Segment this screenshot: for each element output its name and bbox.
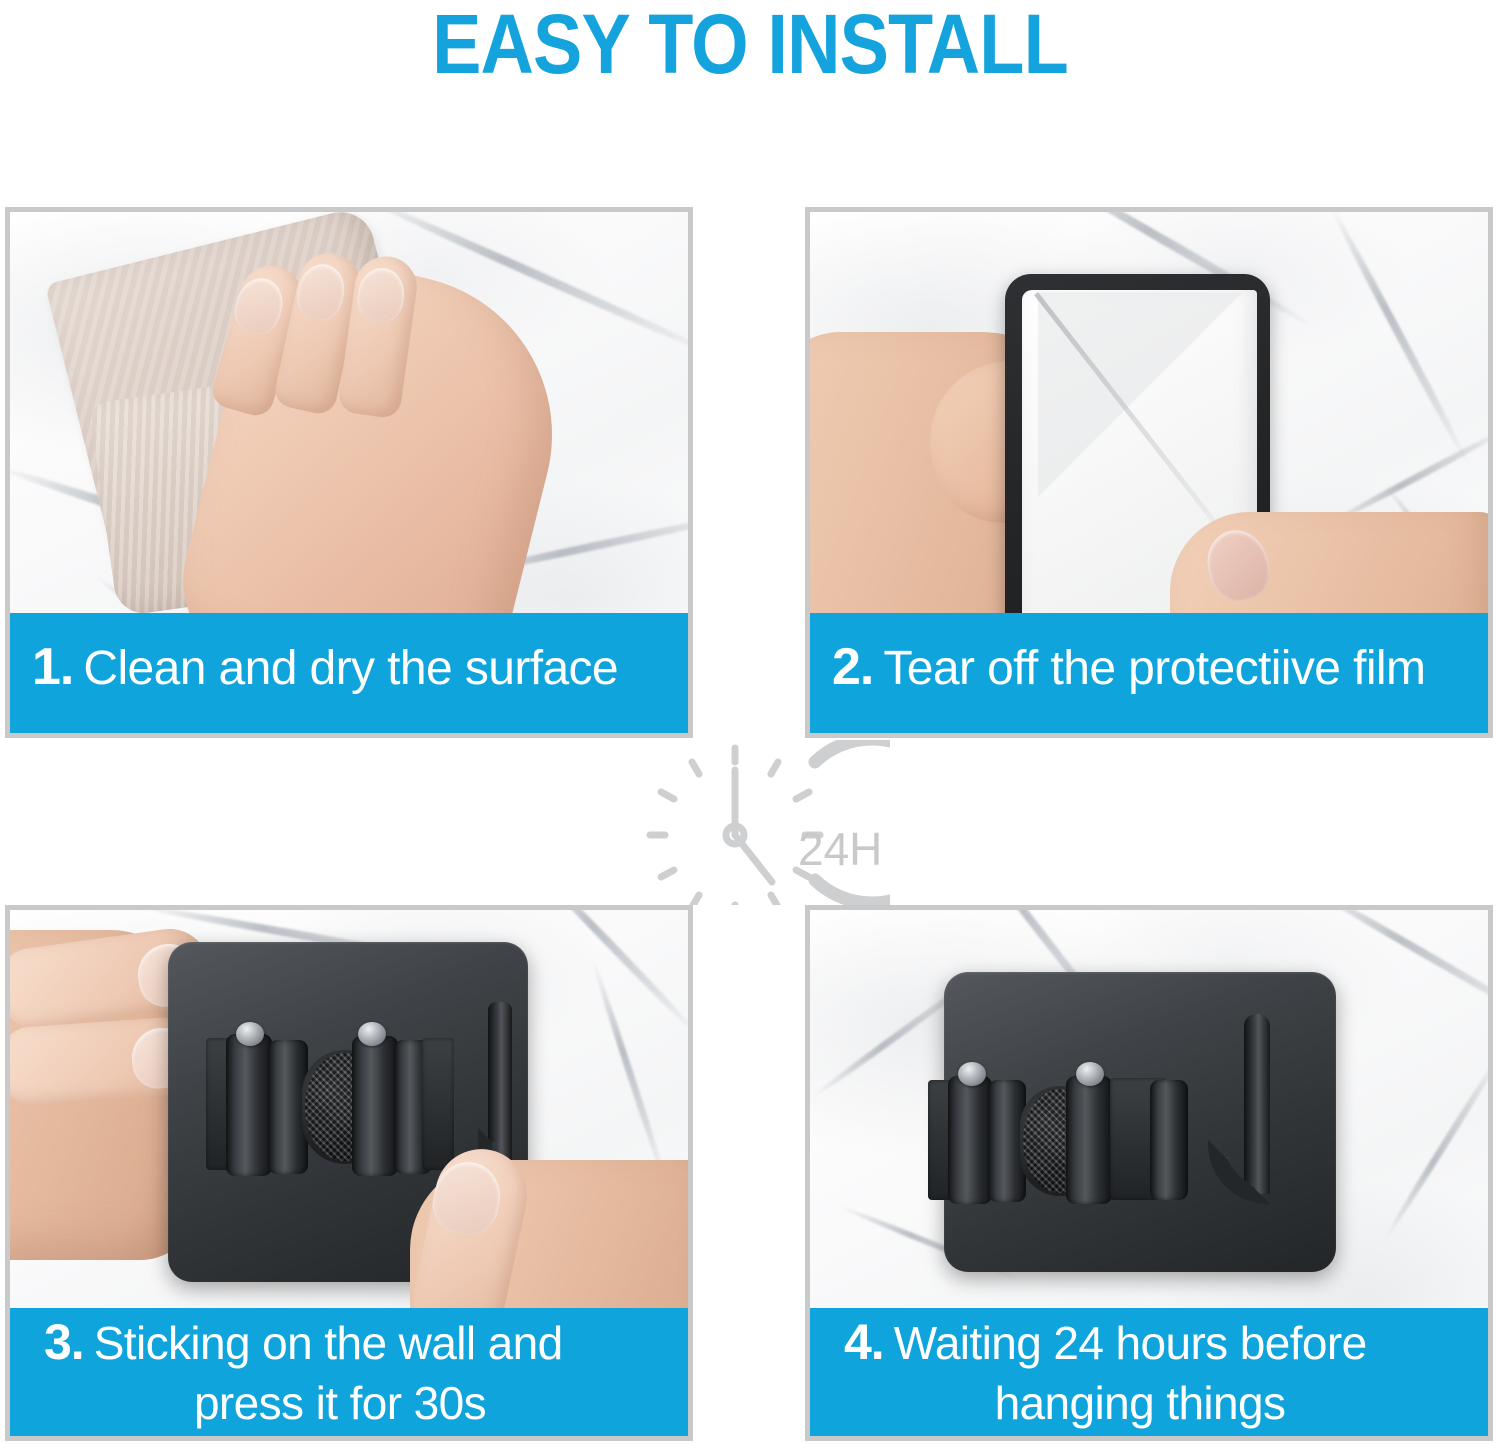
step-3-number: 3. <box>44 1314 84 1370</box>
infographic-page: EASY TO INSTALL 1.Clean and dry the surf… <box>0 0 1500 1451</box>
step-1-text: Clean and dry the surface <box>83 642 618 695</box>
clamp-bracket <box>422 1038 454 1170</box>
step-2-text: Tear off the protectiive film <box>883 642 1425 695</box>
step-3-text-line-2: press it for 30s <box>194 1377 486 1429</box>
step-4-text-line-2: hanging things <box>995 1377 1286 1429</box>
roller <box>226 1034 272 1176</box>
step-panel-4: 4.Waiting 24 hours before hanging things <box>805 905 1493 1441</box>
step-3-text-line-1: Sticking on the wall and <box>94 1317 563 1369</box>
page-title: EASY TO INSTALL <box>90 2 1410 86</box>
screw <box>236 1022 264 1046</box>
step-4-number: 4. <box>844 1314 884 1370</box>
screw <box>958 1062 986 1086</box>
step-2-caption: 2.Tear off the protectiive film <box>810 613 1488 733</box>
step-panel-2: 2.Tear off the protectiive film <box>805 207 1493 738</box>
roller <box>352 1036 398 1176</box>
step-3-caption: 3.Sticking on the wall and press it for … <box>10 1308 688 1436</box>
clock-label: 24H <box>798 822 882 876</box>
step-1-caption: 1.Clean and dry the surface <box>10 613 688 733</box>
roller <box>1066 1076 1112 1204</box>
step-2-number: 2. <box>832 638 873 696</box>
step-4-text-line-1: Waiting 24 hours before <box>894 1317 1367 1369</box>
protective-film-fold <box>1038 292 1243 497</box>
roller <box>948 1076 992 1204</box>
screw <box>358 1022 386 1046</box>
step-4-caption: 4.Waiting 24 hours before hanging things <box>810 1308 1488 1436</box>
clock-icon: 24H <box>640 740 890 905</box>
roller <box>1150 1080 1188 1200</box>
step-1-number: 1. <box>32 638 73 696</box>
step-panel-3: 3.Sticking on the wall and press it for … <box>5 905 693 1441</box>
screw <box>1076 1062 1104 1086</box>
step-panel-1: 1.Clean and dry the surface <box>5 207 693 738</box>
